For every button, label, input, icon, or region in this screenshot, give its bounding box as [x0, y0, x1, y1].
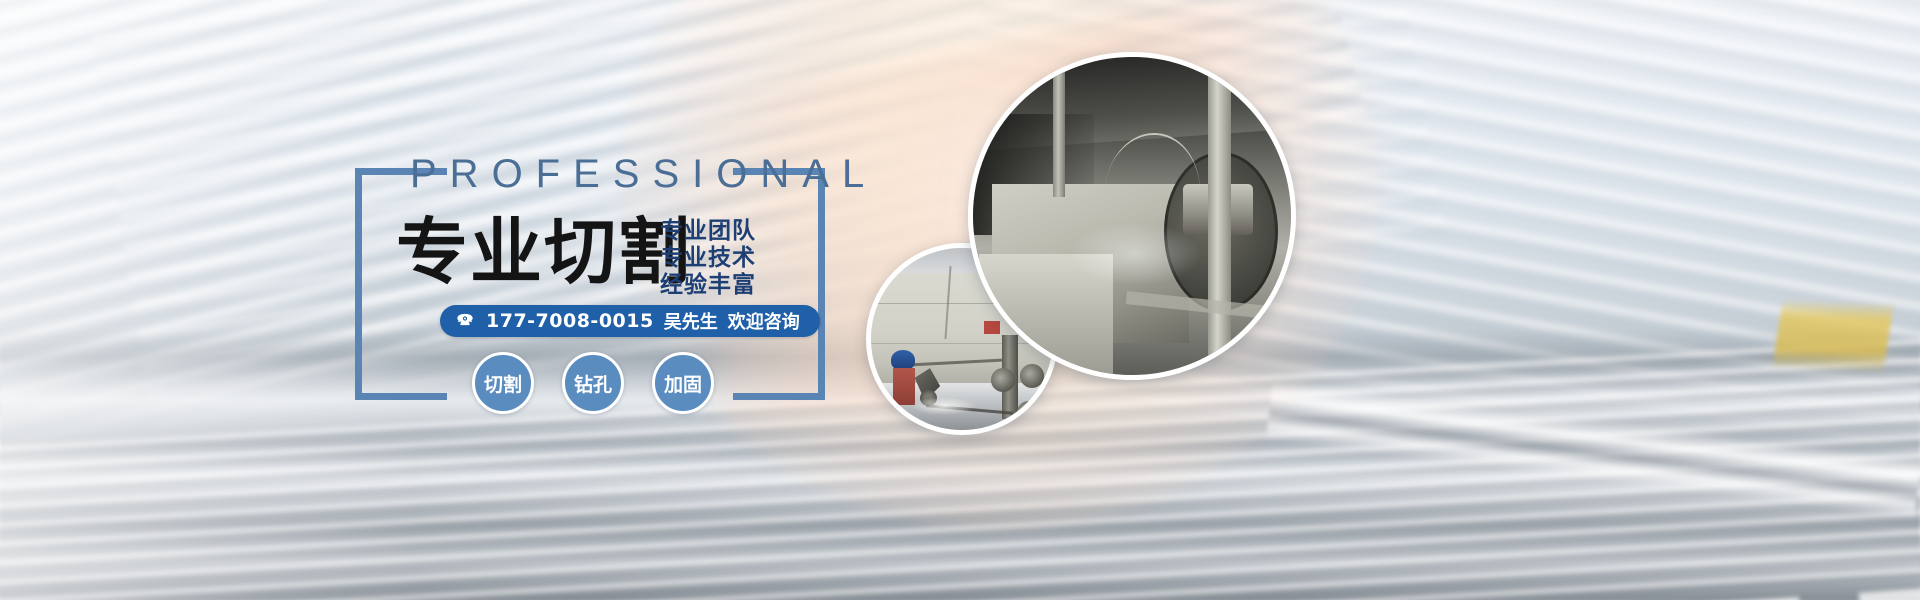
service-button-reinforcement[interactable]: 加固 [652, 352, 714, 414]
headline-english: PROFESSIONAL [410, 152, 877, 197]
feature-item-1: 专业团队 [660, 218, 756, 245]
service-button-cutting[interactable]: 切割 [472, 352, 534, 414]
secondary-support-post [1053, 57, 1066, 197]
feature-item-3: 经验丰富 [660, 272, 756, 299]
concrete-saw-machine-photo [968, 52, 1296, 380]
contact-cta-text: 欢迎咨询 [728, 308, 800, 334]
feature-list: 专业团队 专业技术 经验丰富 [660, 218, 756, 299]
promotional-banner: PROFESSIONAL 专业切割 专业团队 专业技术 经验丰富 177-700… [0, 0, 1920, 600]
vertical-support-post [1208, 63, 1230, 368]
cutting-dust [1068, 222, 1202, 286]
contact-phone-bar[interactable]: 177-7008-0015 吴先生 欢迎咨询 [440, 305, 820, 337]
worker-helmet [891, 350, 915, 370]
concrete-saw-machine-photo-scene [973, 57, 1291, 375]
feature-item-2: 专业技术 [660, 245, 756, 272]
phone-number: 177-7008-0015 [486, 310, 654, 332]
service-buttons-group: 切割 钻孔 加固 [472, 352, 714, 414]
telephone-icon [454, 310, 476, 332]
contact-person-name: 吴先生 [664, 308, 718, 334]
headline-chinese: 专业切割 [396, 216, 692, 288]
saw-disc-3 [1017, 401, 1041, 425]
service-button-drilling[interactable]: 钻孔 [562, 352, 624, 414]
concrete-debris [911, 397, 977, 415]
